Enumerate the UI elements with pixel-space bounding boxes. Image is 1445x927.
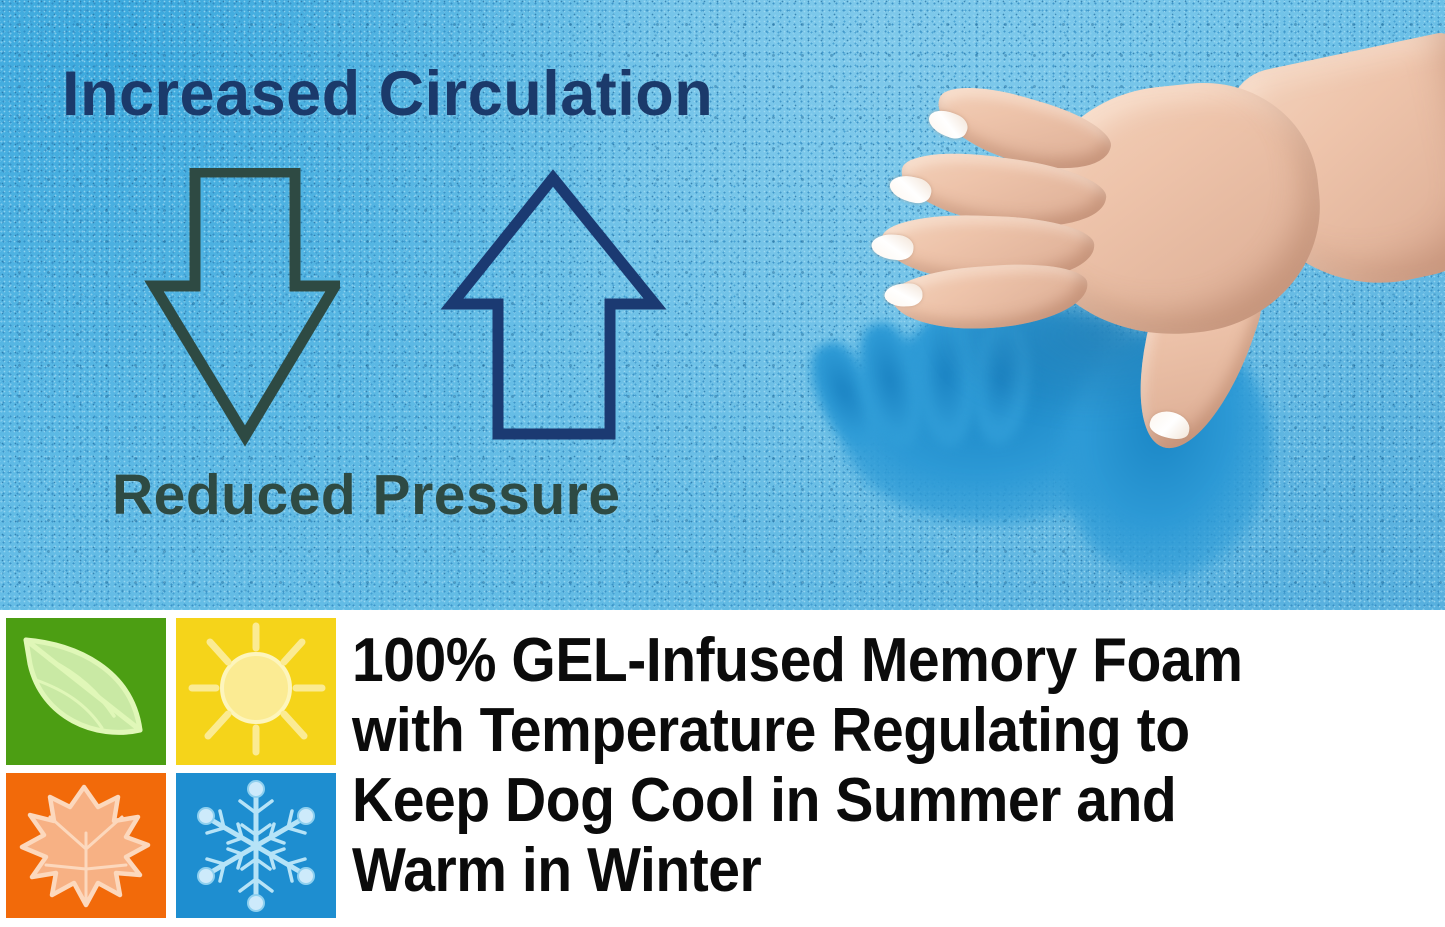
headline-line-2: with Temperature Regulating to [352, 696, 1350, 766]
season-tile-grid [6, 618, 336, 921]
reduced-pressure-label: Reduced Pressure [112, 462, 621, 528]
leaf-icon [6, 618, 166, 765]
winter-snow-tile [176, 773, 336, 918]
summer-sun-tile [176, 618, 336, 765]
increased-circulation-label: Increased Circulation [62, 58, 713, 130]
headline-text: 100% GEL-Infused Memory Foam with Temper… [352, 626, 1350, 906]
snowflake-icon [176, 773, 336, 918]
autumn-leaf-tile [6, 773, 166, 918]
feature-callout-panel: 100% GEL-Infused Memory Foam with Temper… [0, 610, 1445, 927]
headline-line-3: Keep Dog Cool in Summer and [352, 766, 1350, 836]
headline-line-4: Warm in Winter [352, 836, 1350, 906]
up-arrow-icon [438, 168, 668, 448]
sun-icon [176, 618, 336, 765]
spring-leaf-tile [6, 618, 166, 765]
down-arrow-icon [140, 168, 340, 448]
headline-line-1: 100% GEL-Infused Memory Foam [352, 626, 1350, 696]
fingernail [884, 283, 923, 307]
hand-photo-group [812, 40, 1445, 610]
marketing-graphic: Increased Circulation Reduced Pressure [0, 0, 1445, 927]
hand [812, 40, 1445, 520]
foam-photo-panel: Increased Circulation Reduced Pressure [0, 0, 1445, 610]
maple-leaf-icon [6, 773, 166, 918]
